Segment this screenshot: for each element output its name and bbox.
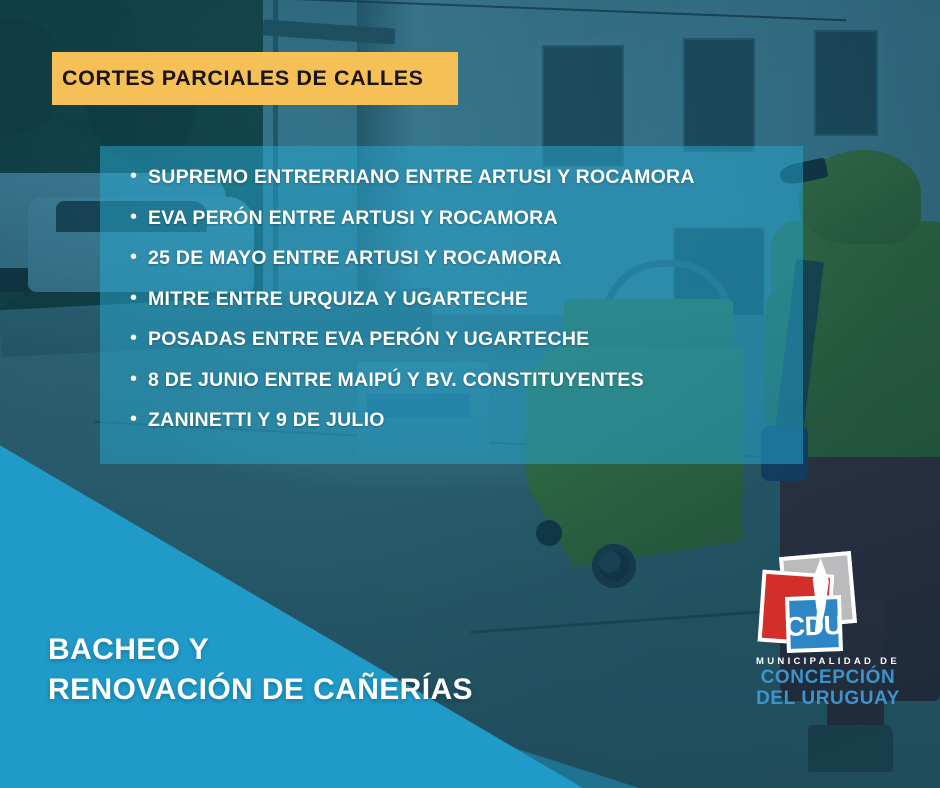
poster-canvas: CORTES PARCIALES DE CALLES • SUPREMO ENT… xyxy=(0,0,940,788)
street-closure-panel: • SUPREMO ENTRERRIANO ENTRE ARTUSI Y ROC… xyxy=(100,146,803,464)
street-closure-label: EVA PERÓN ENTRE ARTUSI Y ROCAMORA xyxy=(148,209,558,229)
cdu-logo: CDU MUNICIPALIDAD DE CONCEPCIÓN DEL URUG… xyxy=(748,552,908,710)
headline-line-2: RENOVACIÓN DE CAÑERÍAS xyxy=(48,670,473,710)
headline-line-1: BACHEO Y xyxy=(48,630,473,670)
street-closure-label: 25 DE MAYO ENTRE ARTUSI Y ROCAMORA xyxy=(148,249,562,269)
list-item: • EVA PERÓN ENTRE ARTUSI Y ROCAMORA xyxy=(130,209,803,229)
banner-title-bar: CORTES PARCIALES DE CALLES xyxy=(52,52,458,105)
street-closure-label: POSADAS ENTRE EVA PERÓN Y UGARTECHE xyxy=(148,330,589,350)
list-item: • 25 DE MAYO ENTRE ARTUSI Y ROCAMORA xyxy=(130,249,803,269)
street-closure-label: 8 DE JUNIO ENTRE MAIPÚ Y BV. CONSTITUYEN… xyxy=(148,371,644,391)
bullet-icon: • xyxy=(130,290,148,307)
logo-city-line-1: CONCEPCIÓN xyxy=(748,667,908,688)
street-closure-label: MITRE ENTRE URQUIZA Y UGARTECHE xyxy=(148,290,528,310)
street-closure-list: • SUPREMO ENTRERRIANO ENTRE ARTUSI Y ROC… xyxy=(130,168,803,431)
list-item: • SUPREMO ENTRERRIANO ENTRE ARTUSI Y ROC… xyxy=(130,168,803,188)
street-closure-label: SUPREMO ENTRERRIANO ENTRE ARTUSI Y ROCAM… xyxy=(148,168,695,188)
logo-square-blue: CDU xyxy=(785,595,843,653)
bullet-icon: • xyxy=(130,249,148,266)
list-item: • POSADAS ENTRE EVA PERÓN Y UGARTECHE xyxy=(130,330,803,350)
street-closure-label: ZANINETTI Y 9 DE JULIO xyxy=(148,411,385,431)
bullet-icon: • xyxy=(130,411,148,428)
logo-marks: CDU xyxy=(748,552,908,652)
banner-title-text: CORTES PARCIALES DE CALLES xyxy=(52,66,424,91)
poster-headline: BACHEO Y RENOVACIÓN DE CAÑERÍAS xyxy=(48,630,473,710)
bullet-icon: • xyxy=(130,371,148,388)
logo-monogram: CDU xyxy=(785,612,843,641)
logo-subtitle: MUNICIPALIDAD DE xyxy=(748,656,908,667)
list-item: • 8 DE JUNIO ENTRE MAIPÚ Y BV. CONSTITUY… xyxy=(130,371,803,391)
bullet-icon: • xyxy=(130,330,148,347)
bullet-icon: • xyxy=(130,209,148,226)
bullet-icon: • xyxy=(130,168,148,185)
list-item: • MITRE ENTRE URQUIZA Y UGARTECHE xyxy=(130,290,803,310)
logo-city-line-2: DEL URUGUAY xyxy=(748,688,908,709)
list-item: • ZANINETTI Y 9 DE JULIO xyxy=(130,411,803,431)
